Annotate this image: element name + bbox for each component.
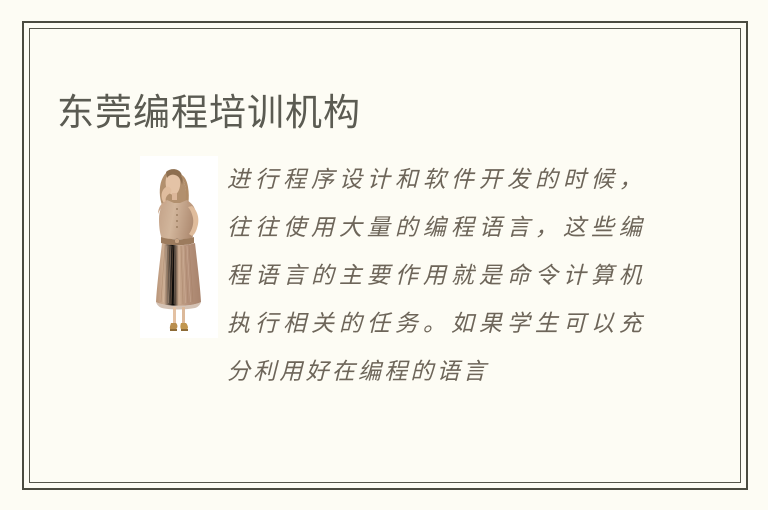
page-title: 东莞编程培训机构 xyxy=(57,91,361,135)
article-photo xyxy=(140,156,218,338)
article-paragraph: 进行程序设计和软件开发的时候，往往使用大量的编程语言，这些编程语言的主要作用就是… xyxy=(227,156,645,396)
article-body: 进行程序设计和软件开发的时候，往往使用大量的编程语言，这些编程语言的主要作用就是… xyxy=(29,133,741,433)
article-page: 东莞编程培训机构 xyxy=(0,0,768,510)
page-content: 东莞编程培训机构 xyxy=(29,28,741,483)
